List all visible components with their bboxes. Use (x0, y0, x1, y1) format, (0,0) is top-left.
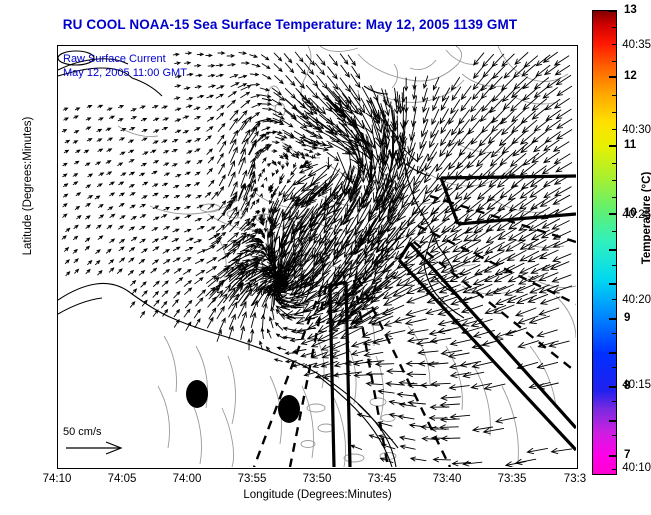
colorbar-minor-tick (612, 265, 617, 266)
colorbar-gradient (593, 11, 616, 474)
current-vector (276, 323, 283, 330)
current-vector (185, 288, 192, 294)
current-vector (176, 175, 181, 177)
current-vector (537, 362, 557, 368)
current-vector (66, 228, 70, 231)
current-vector (163, 250, 169, 254)
current-vector (96, 261, 100, 265)
current-vector (493, 66, 505, 79)
current-vector (230, 131, 237, 144)
current-vector (142, 196, 147, 199)
current-vector (315, 153, 320, 156)
current-vector (174, 320, 179, 328)
current-vector (186, 238, 193, 241)
current-vector (194, 240, 201, 243)
current-vector (483, 65, 494, 78)
current-vector (398, 392, 415, 397)
current-vector (184, 258, 191, 262)
current-vector (506, 462, 526, 467)
current-vector (483, 54, 494, 66)
current-vector (554, 142, 569, 152)
current-vector (62, 130, 66, 133)
current-vector (153, 310, 158, 316)
current-vector (161, 215, 166, 218)
current-vector (544, 152, 560, 163)
current-vector (494, 285, 514, 294)
current-vector (262, 127, 270, 130)
current-vector (541, 297, 560, 304)
current-vector (174, 97, 179, 100)
current-vector (154, 281, 160, 286)
current-vector (228, 92, 236, 97)
current-vector (256, 134, 264, 143)
current-vector (153, 141, 158, 143)
current-vector (401, 445, 416, 449)
current-vector (194, 183, 199, 186)
current-vector (186, 195, 191, 198)
current-vector (273, 187, 278, 196)
current-vector (97, 129, 102, 131)
current-vector (217, 105, 224, 110)
current-vector (556, 163, 572, 172)
current-vector (185, 172, 190, 175)
current-vector (141, 163, 146, 166)
site-markers (186, 380, 300, 423)
current-vector (74, 259, 78, 263)
current-vector (121, 173, 126, 176)
current-vector (119, 182, 124, 185)
current-vector (74, 131, 78, 134)
current-vector (407, 295, 428, 303)
current-vector (195, 172, 200, 175)
current-vector (283, 336, 294, 339)
current-vector (73, 250, 77, 254)
current-vector (241, 312, 247, 327)
current-vector (186, 140, 191, 142)
current-vector (505, 286, 525, 295)
current-vector (378, 390, 394, 394)
y-axis-label: Latitude (Degrees:Minutes) (22, 106, 34, 266)
current-vector (514, 77, 527, 89)
colorbar-minor-tick (612, 112, 617, 113)
current-vector (129, 227, 134, 230)
current-vector (73, 236, 77, 239)
current-vector (174, 195, 179, 197)
current-vector (108, 138, 113, 141)
current-vector (130, 205, 135, 208)
current-vector (187, 98, 193, 101)
current-vector (88, 174, 92, 177)
current-vector (63, 174, 67, 177)
current-vector (512, 85, 525, 97)
current-vector (400, 210, 418, 231)
current-vector (275, 359, 283, 362)
current-vector (75, 161, 79, 164)
current-vector (153, 106, 158, 109)
current-vector (464, 185, 480, 199)
current-vector (364, 352, 383, 357)
colorbar-tick-label: 12 (624, 70, 650, 82)
current-vector (142, 291, 147, 296)
colorbar-minor-tick (612, 129, 617, 130)
current-vector (468, 120, 480, 134)
current-vector (242, 130, 250, 144)
current-vector (153, 184, 158, 186)
current-vector (291, 168, 296, 175)
current-vector (252, 64, 260, 67)
current-vector (197, 53, 203, 56)
current-vector (185, 301, 191, 308)
current-vector (256, 199, 259, 203)
current-vector (300, 94, 314, 108)
current-vector (544, 188, 560, 198)
current-vector (208, 227, 215, 231)
current-vector (250, 55, 257, 58)
current-vector (262, 64, 270, 69)
current-vector (65, 260, 69, 264)
current-vector (473, 276, 493, 285)
colorbar-minor-tick (612, 44, 617, 45)
current-vector (175, 208, 180, 210)
current-vector (348, 55, 355, 65)
current-vector (451, 100, 460, 114)
current-vector (216, 225, 224, 232)
current-vector (63, 108, 67, 110)
current-vector (556, 109, 571, 119)
current-vector (490, 99, 503, 112)
current-vector (195, 64, 201, 67)
current-vector (351, 445, 362, 449)
current-vector (205, 193, 210, 198)
colorbar-minor-tick (612, 95, 617, 96)
current-vector (129, 150, 134, 152)
current-vector (217, 86, 224, 89)
current-vector (142, 129, 147, 131)
current-vector (294, 119, 307, 128)
current-vector (175, 62, 180, 65)
current-vector (86, 270, 90, 274)
current-vector (241, 171, 247, 187)
current-vector (153, 193, 158, 196)
current-vector (552, 448, 572, 453)
current-vector (308, 74, 318, 86)
current-vector (198, 95, 204, 98)
current-vector (206, 106, 212, 109)
current-vector (286, 76, 295, 86)
current-vector (206, 276, 216, 284)
current-vector (186, 105, 192, 108)
current-vector (442, 88, 449, 101)
current-vector (242, 117, 252, 130)
map-canvas (58, 46, 576, 467)
current-vector (329, 55, 337, 66)
current-vector (220, 318, 226, 330)
current-vector (282, 120, 292, 127)
xtick-label: 73:50 (287, 473, 347, 485)
current-vector (231, 83, 239, 87)
current-vector (557, 86, 572, 95)
current-vector (63, 214, 67, 217)
current-vector (530, 186, 546, 197)
current-vector (197, 227, 204, 230)
current-vector (408, 133, 415, 154)
current-vector (432, 109, 439, 124)
current-vector (515, 53, 528, 65)
current-vector (151, 150, 156, 152)
current-vector (86, 118, 90, 120)
current-vector (205, 136, 211, 141)
current-vector (74, 116, 78, 118)
current-vector (261, 315, 264, 328)
current-vector (400, 436, 415, 440)
current-vector (502, 77, 515, 90)
current-vector (395, 220, 414, 241)
current-vector (65, 248, 69, 252)
current-vector (546, 120, 561, 131)
current-vector (498, 240, 517, 251)
current-vector (294, 163, 296, 168)
current-vector (106, 128, 111, 130)
current-vector (185, 161, 190, 164)
current-vector (119, 247, 124, 251)
current-vector (119, 193, 124, 196)
current-vector (186, 52, 192, 55)
current-vector (63, 204, 67, 207)
current-vector (263, 108, 272, 111)
current-vector (129, 248, 134, 252)
current-vector (216, 64, 223, 67)
current-vector (195, 319, 200, 328)
current-vector (174, 217, 180, 219)
figure-title: RU COOL NOAA-15 Sea Surface Temperature:… (0, 17, 580, 32)
current-vector (110, 193, 115, 196)
current-vector (195, 149, 200, 152)
current-vector (238, 111, 246, 121)
current-vector (129, 160, 134, 163)
current-vector (196, 298, 203, 306)
current-vector (162, 183, 167, 185)
current-vector (555, 154, 571, 164)
current-vector (131, 281, 136, 286)
current-vector (86, 127, 90, 129)
current-vector (482, 98, 494, 112)
colorbar-tick (609, 10, 617, 12)
current-vector (496, 417, 516, 423)
current-vectors (62, 52, 572, 467)
current-vector (251, 201, 255, 209)
current-vector (424, 76, 428, 88)
current-vector (535, 78, 549, 89)
current-vector (131, 217, 136, 220)
current-vector (76, 150, 80, 153)
colorbar-tick (609, 455, 617, 457)
scale-reference-label: 50 cm/s (63, 426, 102, 438)
current-vector (297, 64, 306, 75)
current-vector (162, 106, 167, 108)
current-vector (451, 414, 470, 419)
current-vector (285, 63, 293, 73)
current-vector (175, 119, 180, 122)
current-vector (183, 116, 188, 118)
current-vector (77, 216, 81, 219)
current-vector (86, 216, 90, 219)
current-vector (431, 338, 452, 343)
current-vector (461, 97, 471, 111)
current-vector (153, 292, 158, 298)
current-vector (120, 239, 125, 243)
xtick-label: 74:10 (27, 473, 87, 485)
current-vector (132, 237, 137, 241)
current-vector (110, 116, 115, 118)
current-vector (242, 62, 250, 65)
current-vector (450, 261, 470, 271)
current-vector (118, 119, 123, 121)
current-vector (106, 249, 111, 253)
current-vector (117, 269, 122, 273)
current-vector (228, 64, 235, 67)
colorbar-minor-tick (612, 27, 617, 28)
current-vector (76, 193, 80, 196)
current-vector (195, 128, 200, 131)
current-vector (195, 139, 200, 142)
current-vector (95, 196, 99, 199)
current-vector (362, 330, 382, 338)
current-vector (107, 149, 112, 152)
current-vector (120, 152, 125, 155)
current-vector (272, 141, 279, 144)
current-vector (216, 94, 223, 98)
current-vector (436, 154, 448, 171)
current-vector (506, 328, 526, 336)
current-vector (418, 350, 438, 355)
current-vector (173, 53, 179, 56)
current-vector (400, 403, 416, 407)
current-vector (423, 88, 428, 101)
current-vector (194, 107, 200, 110)
colorbar-minor-tick (612, 469, 617, 470)
x-axis-label: Longitude (Degrees:Minutes) (57, 489, 578, 501)
current-vector (196, 74, 202, 77)
current-vector (73, 182, 77, 185)
current-vector (287, 175, 294, 183)
current-vector (249, 142, 256, 155)
current-vector (62, 236, 66, 239)
current-vector (207, 149, 212, 154)
current-vector (185, 215, 191, 217)
current-vector (207, 127, 213, 132)
current-vector (249, 140, 257, 155)
current-vector (341, 65, 350, 77)
current-vector (304, 149, 313, 152)
current-vector (85, 163, 89, 166)
colorbar-tick-label: 13 (624, 4, 650, 16)
overlay-label: Raw Surface Current (63, 52, 166, 66)
current-vector (98, 118, 103, 120)
current-vector (131, 109, 136, 111)
current-vector (174, 310, 179, 317)
current-vector (278, 347, 286, 350)
current-vector (110, 239, 115, 243)
current-vector (164, 208, 169, 210)
current-vector (251, 95, 260, 98)
current-vector (218, 124, 225, 132)
current-vector (87, 105, 91, 107)
current-vector (208, 117, 214, 121)
xtick-label: 73:35 (482, 473, 542, 485)
current-vector (440, 109, 448, 124)
current-vector (97, 184, 102, 187)
current-vector (268, 329, 272, 338)
current-vector (86, 204, 90, 207)
current-vector (98, 271, 102, 275)
current-vector (485, 272, 505, 282)
current-vector (140, 226, 145, 229)
current-vector (173, 140, 178, 142)
current-vector (352, 340, 371, 347)
current-vector (274, 64, 282, 72)
current-vector (173, 258, 180, 262)
current-vector (328, 67, 337, 79)
current-vector (140, 312, 144, 318)
current-vector (195, 218, 201, 221)
current-vector (317, 55, 325, 66)
current-vector (64, 184, 68, 187)
current-vector (87, 139, 91, 142)
current-vector (555, 187, 571, 196)
current-vector (207, 318, 213, 328)
overlay-timestamp: May 12, 2005 11:00 GMT (63, 66, 187, 80)
current-vector (219, 201, 226, 210)
current-vector (162, 237, 168, 240)
colorbar-tick (609, 76, 617, 78)
current-vector (162, 127, 167, 129)
current-vector (528, 294, 548, 302)
current-vector (96, 162, 101, 165)
current-vector (197, 160, 202, 163)
current-vector (120, 216, 125, 219)
current-vector (175, 108, 180, 110)
colorbar-minor-tick (612, 435, 617, 436)
current-vector (195, 117, 201, 119)
current-vector (218, 52, 225, 55)
current-vector (463, 461, 482, 466)
current-vector (176, 278, 183, 283)
current-vector (241, 86, 251, 90)
current-vector (537, 330, 557, 337)
current-vector (163, 118, 168, 121)
current-vector (173, 247, 179, 250)
xtick-label: 73:40 (417, 473, 477, 485)
current-vector (496, 254, 515, 264)
current-vector (164, 163, 169, 165)
current-vector (474, 53, 484, 65)
current-vector (208, 157, 213, 163)
current-vector (110, 214, 115, 217)
current-vector (251, 113, 260, 120)
current-vector (407, 372, 426, 377)
current-vector (257, 212, 260, 214)
current-vector (107, 172, 112, 175)
current-vector (207, 95, 213, 98)
current-vector (220, 141, 226, 151)
current-vector (527, 448, 547, 453)
current-vector (209, 85, 215, 88)
current-vector (139, 271, 144, 276)
current-vector (98, 105, 103, 107)
xtick-label: 73:55 (222, 473, 282, 485)
current-vector (186, 248, 193, 251)
current-vector (198, 290, 206, 298)
